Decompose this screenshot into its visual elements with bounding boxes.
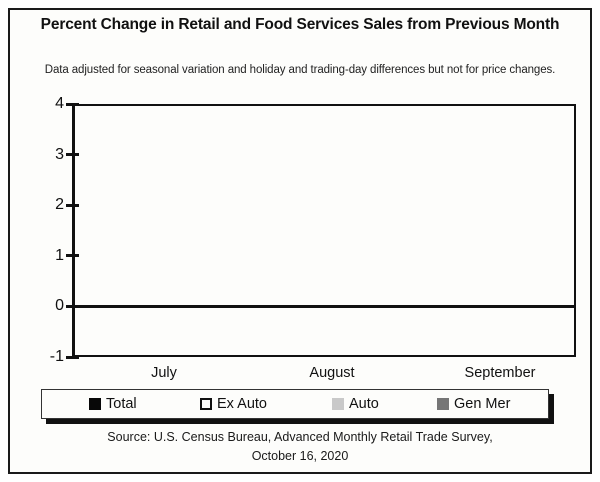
legend-item-label: Auto bbox=[349, 396, 379, 412]
y-axis-spine bbox=[72, 104, 75, 357]
source-line-1: Source: U.S. Census Bureau, Advanced Mon… bbox=[30, 428, 570, 447]
source-note: Source: U.S. Census Bureau, Advanced Mon… bbox=[30, 428, 570, 466]
legend-item-auto[interactable]: Auto bbox=[332, 390, 379, 418]
chart-legend: TotalEx AutoAutoGen Mer bbox=[41, 389, 549, 419]
y-tick-4 bbox=[66, 103, 79, 106]
y-axis-label: 0 bbox=[20, 298, 64, 314]
y-axis-label: 2 bbox=[20, 197, 64, 213]
x-axis-label-september: September bbox=[420, 364, 580, 382]
zero-baseline bbox=[72, 305, 576, 308]
legend-swatch-icon bbox=[89, 398, 101, 410]
legend-item-label: Ex Auto bbox=[217, 396, 267, 412]
y-tick-neg1 bbox=[66, 356, 79, 359]
source-line-2: October 16, 2020 bbox=[30, 447, 570, 466]
legend-swatch-icon bbox=[200, 398, 212, 410]
legend-item-gen-mer[interactable]: Gen Mer bbox=[437, 390, 510, 418]
y-tick-1 bbox=[66, 254, 79, 257]
y-axis-label: -1 bbox=[20, 349, 64, 365]
y-tick-2 bbox=[66, 204, 79, 207]
legend-item-label: Gen Mer bbox=[454, 396, 510, 412]
plot-frame bbox=[72, 104, 576, 357]
legend-swatch-icon bbox=[332, 398, 344, 410]
y-tick-3 bbox=[66, 153, 79, 156]
y-axis-label: 4 bbox=[20, 96, 64, 112]
y-axis-label: 3 bbox=[20, 147, 64, 163]
y-axis-label: 1 bbox=[20, 248, 64, 264]
chart-title: Percent Change in Retail and Food Servic… bbox=[22, 14, 578, 35]
legend-swatch-icon bbox=[437, 398, 449, 410]
x-axis-label-august: August bbox=[252, 364, 412, 382]
legend-item-ex-auto[interactable]: Ex Auto bbox=[200, 390, 267, 418]
chart-figure: Percent Change in Retail and Food Servic… bbox=[0, 0, 600, 482]
legend-item-total[interactable]: Total bbox=[89, 390, 137, 418]
chart-subtitle: Data adjusted for seasonal variation and… bbox=[26, 62, 574, 79]
plot-area bbox=[72, 104, 576, 357]
legend-item-label: Total bbox=[106, 396, 137, 412]
x-axis-label-july: July bbox=[84, 364, 244, 382]
